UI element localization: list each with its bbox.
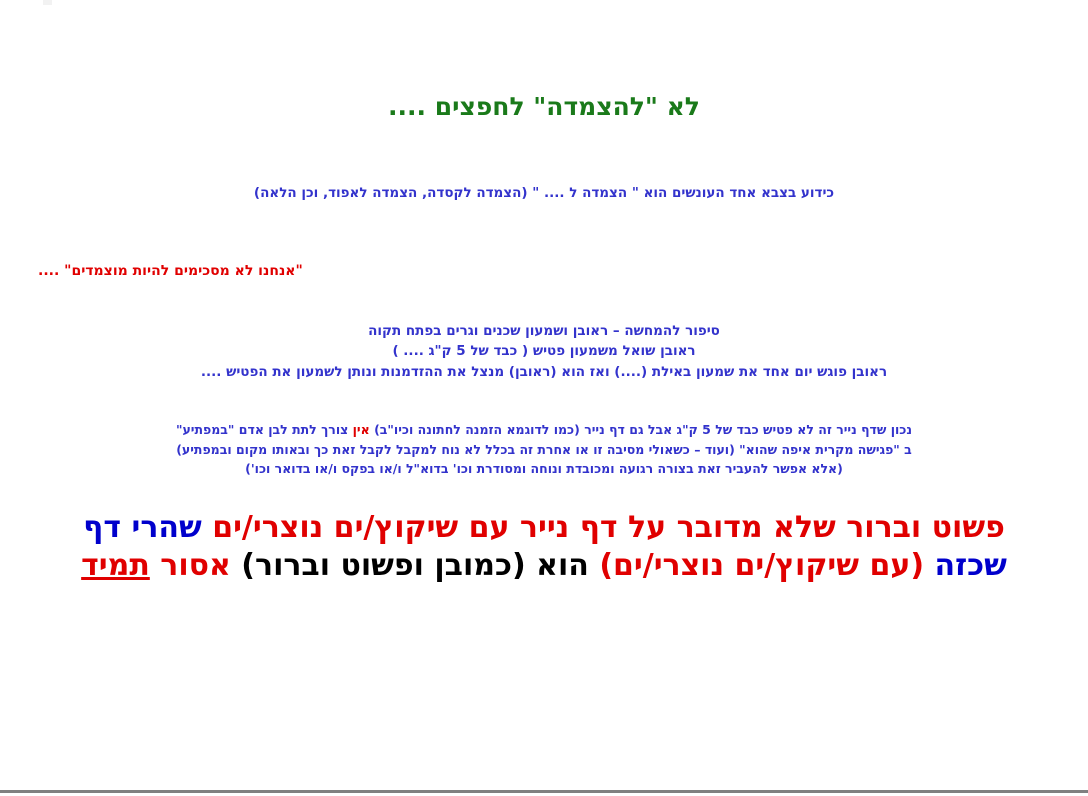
story-block: סיפור להמחשה – ראובן ושמעון שכנים וגרים … [32,321,1056,383]
document-body: לא "להצמדה" לחפצים .... כידוע בצבא אחד ה… [0,0,1088,585]
spacer-after-story [32,382,1056,420]
conclusion-block: פשוט וברור שלא מדובר על דף נייר עם שיקוץ… [32,509,1056,586]
explanation-line-1-highlight: אין [353,422,370,437]
conclusion-line-2-red-underlined: תמיד [81,548,150,583]
story-line-3: ראובן פוגש יום אחד את שמעון באילת (....)… [32,362,1056,383]
conclusion-line-2-red-2: אסור [150,548,231,583]
explanation-line-2: ב "פגישה מקרית איפה שהוא" (ועוד – כשאולי… [32,440,1056,459]
document-page: לא "להצמדה" לחפצים .... כידוע בצבא אחד ה… [0,0,1088,796]
story-line-2: ראובן שואל משמעון פטיש ( כבד של 5 ק"ג ..… [32,341,1056,362]
story-line-1: סיפור להמחשה – ראובן ושמעון שכנים וגרים … [32,321,1056,342]
conclusion-line-1-red: פשוט וברור שלא מדובר על דף נייר עם שיקוץ… [212,510,1005,545]
explanation-line-1-part-b: צורך לתת לבן אדם "במפתיע" [176,422,353,437]
footer-divider [0,790,1088,793]
page-title: לא "להצמדה" לחפצים .... [32,92,1056,122]
conclusion-line-1: פשוט וברור שלא מדובר על דף נייר עם שיקוץ… [32,509,1056,547]
spacer-after-title [32,122,1056,184]
conclusion-line-2: שכזה (עם שיקוץ/ים נוצרי/ים) הוא (כמובן ו… [32,547,1056,585]
explanation-paragraph: נכון שדף נייר זה לא פטיש כבד של 5 ק"ג אב… [32,420,1056,478]
spacer-after-intro [32,204,1056,261]
story-line-3-part-b: (....) ואז הוא (ראובן) מנצל את ההזדמנות … [201,364,652,380]
conclusion-line-2-blue: שכזה [924,548,1007,583]
explanation-line-1: נכון שדף נייר זה לא פטיש כבד של 5 ק"ג אב… [32,420,1056,439]
conclusion-line-2-black: הוא (כמובן ופשוט וברור) [231,548,599,583]
spacer-after-quote [32,281,1056,321]
quote-paragraph: "אנחנו לא מסכימים להיות מוצמדים" .... [32,261,1056,281]
story-line-3-emphasis: באילת [652,364,691,380]
explanation-line-3: (אלא אפשר להעביר זאת בצורה רגועה ומכובדת… [32,459,1056,478]
conclusion-line-2-red: (עם שיקוץ/ים נוצרי/ים) [599,548,924,583]
conclusion-line-1-blue: שהרי דף [83,510,212,545]
intro-paragraph: כידוע בצבא אחד העונשים הוא " הצמדה ל ...… [32,184,1056,204]
story-line-3-part-a: ראובן פוגש יום אחד את שמעון [691,364,887,380]
explanation-line-1-part-a: נכון שדף נייר זה לא פטיש כבד של 5 ק"ג אב… [370,422,912,437]
